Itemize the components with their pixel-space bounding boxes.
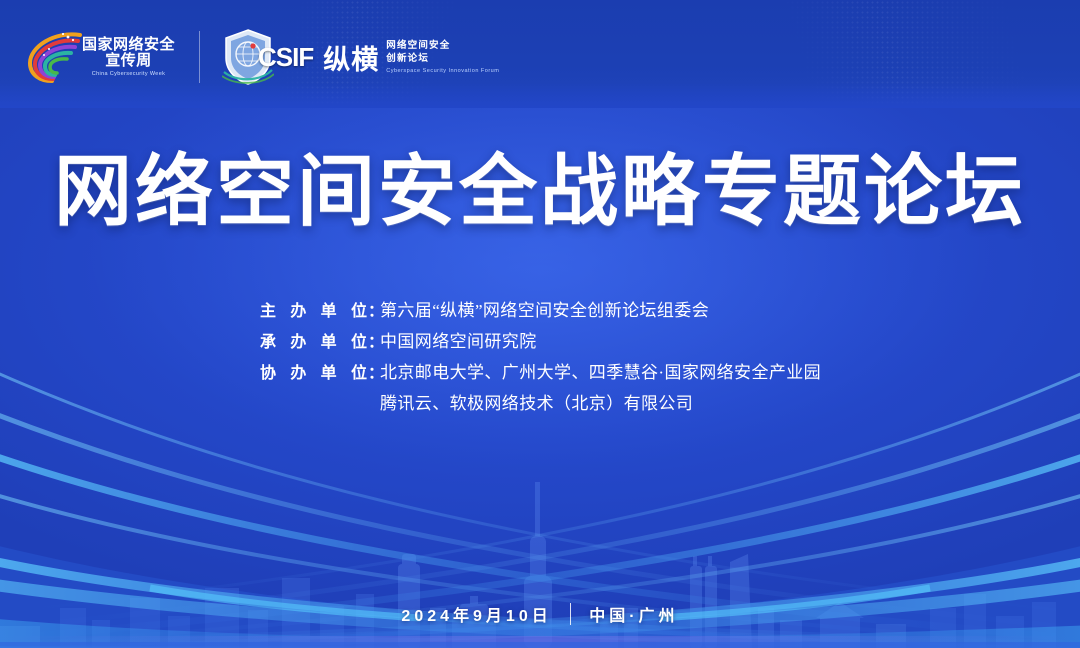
page-title: 网络空间安全战略专题论坛 <box>0 152 1080 230</box>
csif-sub-cn-line1: 网络空间安全 <box>386 40 499 53</box>
info-row: 承办单位 ： 中国网络空间研究院 <box>260 327 820 352</box>
organizer-info: 主办单位 ： 第六届“纵横”网络空间安全创新论坛组委会 承办单位 ： 中国网络空… <box>0 296 1080 420</box>
info-colon: ： <box>368 297 380 321</box>
csif-logo: CSIF 纵横 网络空间安全 创新论坛 Cyberspace Security … <box>222 26 499 88</box>
event-location: 中国·广州 <box>589 602 678 626</box>
csif-brush-name: 纵横 <box>323 38 379 77</box>
info-label: 承办单位 <box>260 328 368 352</box>
info-colon: ： <box>368 328 380 352</box>
organizer-info-inner: 主办单位 ： 第六届“纵横”网络空间安全创新论坛组委会 承办单位 ： 中国网络空… <box>260 296 820 420</box>
csif-subtitle-block: 网络空间安全 创新论坛 Cyberspace Security Innovati… <box>386 40 499 74</box>
info-row: 协办单位 ： 北京邮电大学、广州大学、四季慧谷·国家网络安全产业园 <box>260 358 820 383</box>
ccw-cn-name: 国家网络安全 宣传周 <box>82 37 175 69</box>
csif-sub-en: Cyberspace Security Innovation Forum <box>386 68 499 74</box>
ccw-text-block: 国家网络安全 宣传周 China Cybersecurity Week <box>82 37 175 77</box>
rainbow-swoosh-icon <box>24 29 86 85</box>
ccw-cn-line2: 宣传周 <box>82 53 175 69</box>
csif-sub-cn-line2: 创新论坛 <box>386 53 499 66</box>
csif-chinese-block: 纵横 网络空间安全 创新论坛 Cyberspace Security Innov… <box>323 38 499 77</box>
forum-banner: 国家网络安全 宣传周 China Cybersecurity Week CSIF… <box>0 0 1080 648</box>
china-cybersecurity-week-logo: 国家网络安全 宣传周 China Cybersecurity Week <box>24 28 175 86</box>
footer-separator <box>570 603 572 625</box>
logo-divider <box>199 31 200 83</box>
csif-wordmark: CSIF <box>258 42 313 73</box>
info-label: 主办单位 <box>260 297 368 321</box>
event-date: 2024年9月10日 <box>401 602 551 626</box>
header-logos: 国家网络安全 宣传周 China Cybersecurity Week CSIF… <box>24 26 499 88</box>
ccw-en-name: China Cybersecurity Week <box>82 71 175 77</box>
info-label: 协办单位 <box>260 359 368 383</box>
info-row: 主办单位 ： 第六届“纵横”网络空间安全创新论坛组委会 <box>260 296 820 321</box>
info-value: 腾讯云、软极网络技术（北京）有限公司 <box>380 389 693 414</box>
footer: 2024年9月10日 中国·广州 <box>0 602 1080 626</box>
info-row-continuation: 协办单位 ： 腾讯云、软极网络技术（北京）有限公司 <box>260 389 820 414</box>
info-value: 中国网络空间研究院 <box>380 327 537 352</box>
ccw-cn-line1: 国家网络安全 <box>82 36 175 53</box>
info-value: 北京邮电大学、广州大学、四季慧谷·国家网络安全产业园 <box>380 358 821 383</box>
info-value: 第六届“纵横”网络空间安全创新论坛组委会 <box>380 296 709 321</box>
info-colon: ： <box>368 359 380 383</box>
